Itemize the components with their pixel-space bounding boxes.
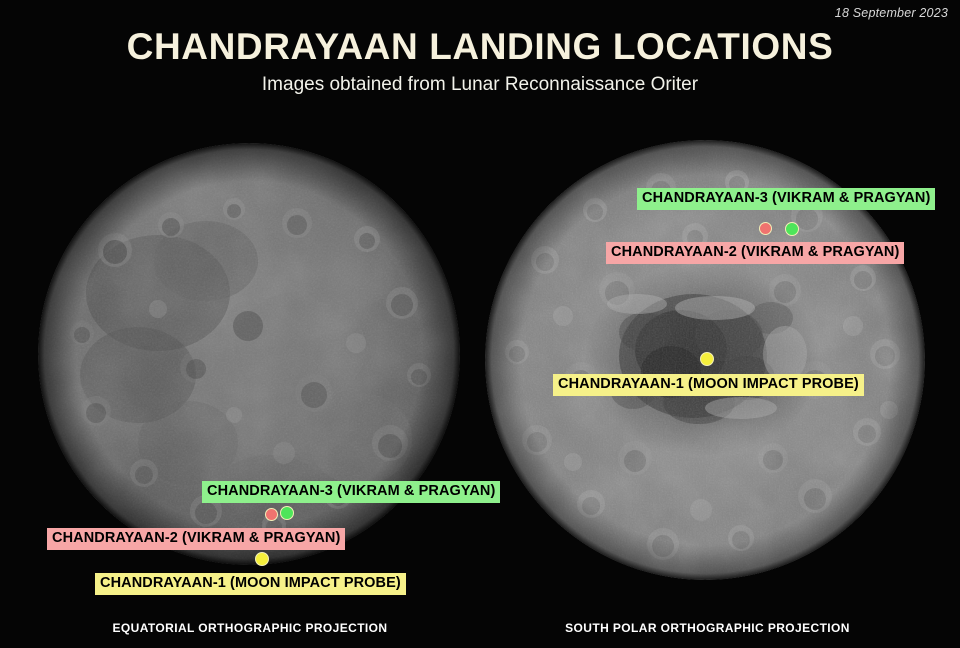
marker-chandrayaan-2-south-polar[interactable] (759, 222, 772, 235)
caption-south-polar: SOUTH POLAR ORTHOGRAPHIC PROJECTION (495, 621, 920, 635)
page-subtitle: Images obtained from Lunar Reconnaissanc… (0, 74, 960, 96)
label-chandrayaan-2-equatorial: CHANDRAYAAN-2 (VIKRAM & PRAGYAN) (47, 528, 345, 550)
date-stamp: 18 September 2023 (835, 6, 948, 20)
label-chandrayaan-1-south-polar: CHANDRAYAAN-1 (MOON IMPACT PROBE) (553, 374, 864, 396)
label-chandrayaan-1-equatorial: CHANDRAYAAN-1 (MOON IMPACT PROBE) (95, 573, 406, 595)
page-title: CHANDRAYAAN LANDING LOCATIONS (0, 26, 960, 68)
marker-chandrayaan-3-equatorial[interactable] (280, 506, 294, 520)
marker-chandrayaan-3-south-polar[interactable] (785, 222, 799, 236)
caption-equatorial: EQUATORIAL ORTHOGRAPHIC PROJECTION (40, 621, 460, 635)
marker-chandrayaan-1-equatorial[interactable] (255, 552, 269, 566)
marker-chandrayaan-2-equatorial[interactable] (265, 508, 278, 521)
label-chandrayaan-2-south-polar: CHANDRAYAAN-2 (VIKRAM & PRAGYAN) (606, 242, 904, 264)
label-chandrayaan-3-equatorial: CHANDRAYAAN-3 (VIKRAM & PRAGYAN) (202, 481, 500, 503)
label-chandrayaan-3-south-polar: CHANDRAYAAN-3 (VIKRAM & PRAGYAN) (637, 188, 935, 210)
marker-chandrayaan-1-south-polar[interactable] (700, 352, 714, 366)
poster-root: 18 September 2023 CHANDRAYAAN LANDING LO… (0, 0, 960, 648)
